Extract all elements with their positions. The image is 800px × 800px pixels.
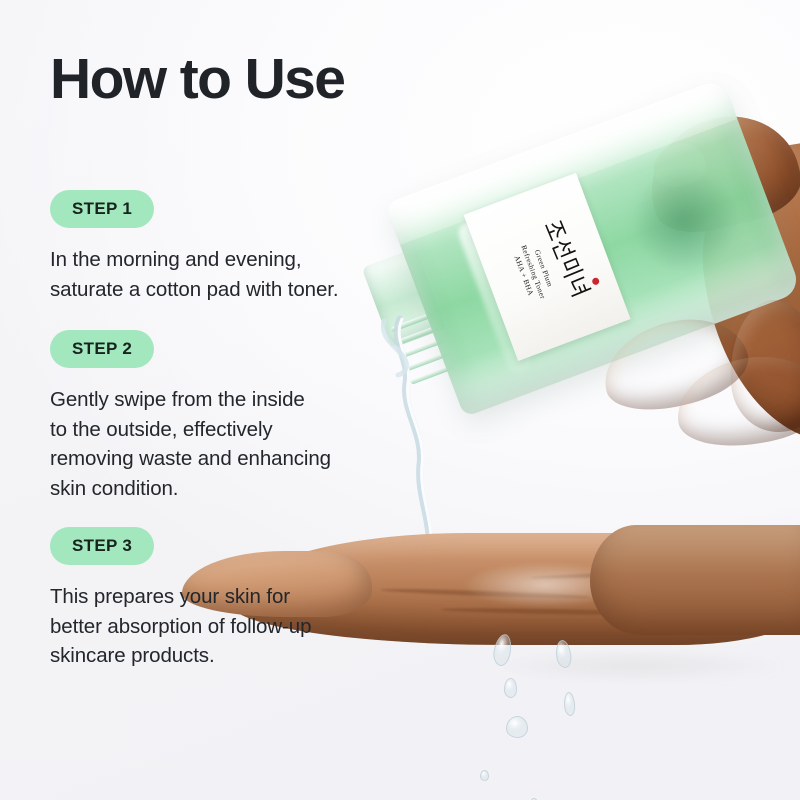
- droplet: [480, 770, 489, 781]
- droplet: [504, 678, 517, 698]
- droplet: [563, 692, 576, 717]
- steps-list: STEP 1 In the morning and evening, satur…: [50, 190, 430, 671]
- step-item: STEP 1 In the morning and evening, satur…: [50, 190, 430, 304]
- page-title: How to Use: [50, 50, 344, 110]
- step-text-3: This prepares your skin for better absor…: [50, 582, 390, 671]
- step-item: STEP 3 This prepares your skin for bette…: [50, 527, 430, 671]
- step-text-1: In the morning and evening, saturate a c…: [50, 245, 390, 304]
- step-item: STEP 2 Gently swipe from the inside to t…: [50, 330, 430, 503]
- wrist: [590, 525, 800, 635]
- step-badge-3: STEP 3: [50, 527, 154, 565]
- step-badge-1: STEP 1: [50, 190, 154, 228]
- droplet: [491, 633, 513, 667]
- droplet: [506, 716, 528, 738]
- how-to-use-graphic: 조선미녀 Green Plum Refreshing Toner AHA + B…: [0, 0, 800, 800]
- droplet: [554, 639, 573, 669]
- falling-droplets: [470, 630, 690, 800]
- step-text-2: Gently swipe from the inside to the outs…: [50, 385, 390, 503]
- step-badge-2: STEP 2: [50, 330, 154, 368]
- label-red-dot: [591, 277, 600, 286]
